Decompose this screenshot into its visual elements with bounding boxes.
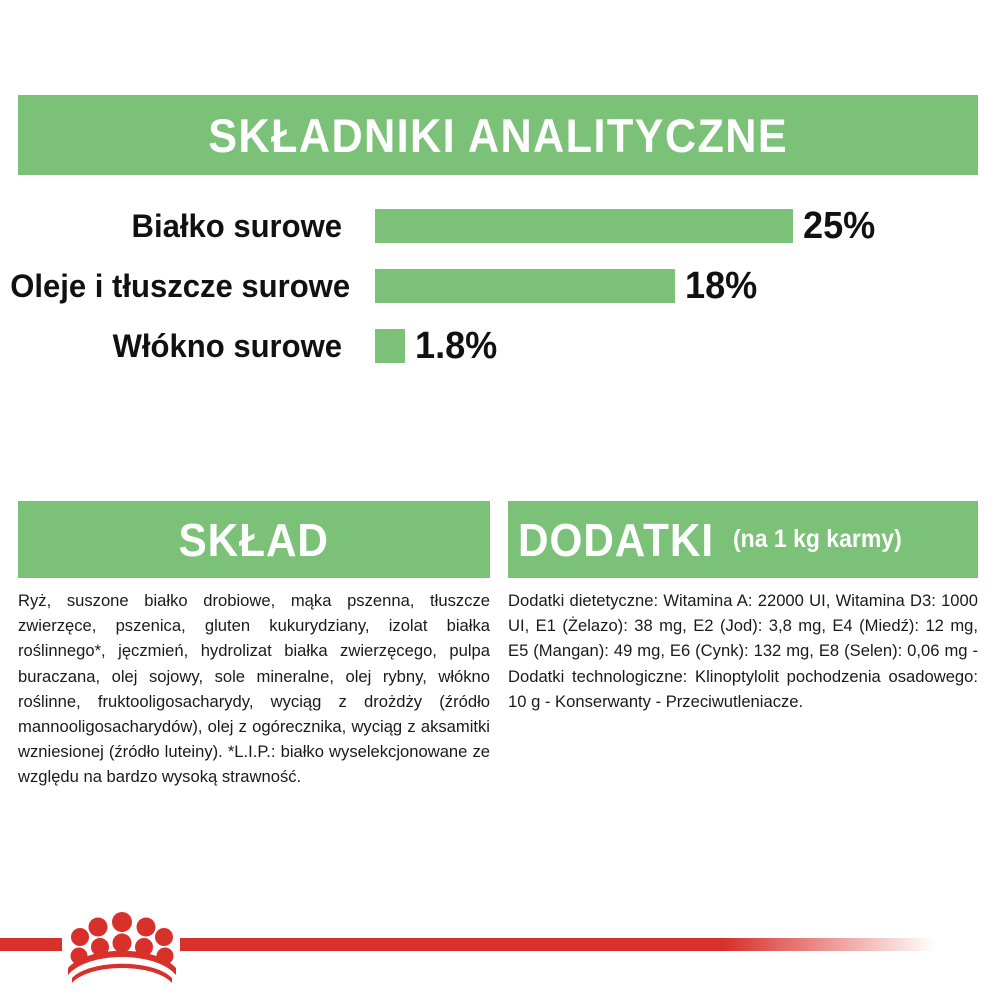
analytical-constituents-banner: SKŁADNIKI ANALITYCZNE (18, 95, 978, 175)
chart-row-bar-group: 25% (375, 196, 879, 256)
chart-row-bar-group: 1.8% (375, 316, 502, 376)
chart-row-label: Oleje i tłuszcze surowe (10, 268, 342, 305)
footer-rule-left (0, 938, 62, 951)
composition-body-text: Ryż, suszone białko drobiowe, mąka pszen… (18, 588, 490, 790)
footer-logo-bar (0, 905, 1000, 985)
chart-row: Białko surowe 25% (0, 196, 1000, 256)
chart-row-label: Włókno surowe (10, 328, 342, 365)
composition-heading: SKŁAD (179, 513, 329, 567)
page-title: SKŁADNIKI ANALITYCZNE (208, 108, 788, 163)
additives-heading-note: (na 1 kg karmy) (733, 525, 902, 554)
chart-bar (375, 209, 793, 243)
chart-bar-value: 18% (685, 265, 757, 308)
analytical-constituents-chart: Białko surowe 25% Oleje i tłuszcze surow… (0, 196, 1000, 376)
composition-section: SKŁAD Ryż, suszone białko drobiowe, mąka… (18, 501, 490, 790)
additives-heading-banner: DODATKI (na 1 kg karmy) (508, 501, 978, 578)
royal-canin-crown-icon (62, 905, 182, 985)
chart-bar (375, 329, 405, 363)
chart-row: Oleje i tłuszcze surowe 18% (0, 256, 1000, 316)
chart-bar-value: 25% (803, 205, 875, 248)
chart-row: Włókno surowe 1.8% (0, 316, 1000, 376)
composition-heading-banner: SKŁAD (18, 501, 490, 578)
chart-row-label: Białko surowe (10, 208, 342, 245)
chart-bar (375, 269, 675, 303)
chart-row-bar-group: 18% (375, 256, 761, 316)
additives-section: DODATKI (na 1 kg karmy) Dodatki dietetyc… (508, 501, 978, 714)
additives-heading: DODATKI (518, 513, 714, 567)
footer-rule-right (180, 938, 935, 951)
additives-body-text: Dodatki dietetyczne: Witamina A: 22000 U… (508, 588, 978, 714)
chart-bar-value: 1.8% (415, 325, 497, 368)
